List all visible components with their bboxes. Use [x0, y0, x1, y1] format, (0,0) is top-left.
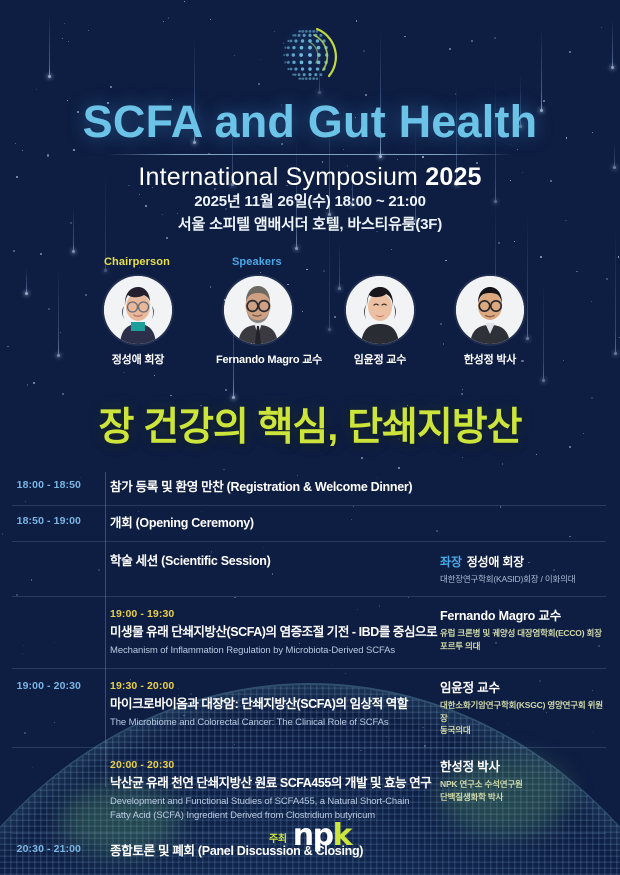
row-speaker: 임윤정 교수 대한소화기암연구학회(KSGC) 영양연구회 위원장 동국의대 [440, 680, 620, 738]
speaker-affiliation-1: 대한소화기암연구학회(KSGC) 영양연구회 위원장 [440, 699, 606, 725]
man-glasses-avatar [456, 276, 524, 344]
npk-logo-k: k [333, 818, 351, 853]
npk-logo-np: np [293, 818, 333, 853]
main-headline: 장 건강의 핵심, 단쇄지방산 [0, 396, 620, 452]
avatar [346, 276, 414, 344]
row-title: 학술 세션 (Scientific Session) [110, 553, 440, 570]
talk-title-ko: 낙산균 유래 천연 단쇄지방산 원료 SCFA455의 개발 및 효능 연구 [110, 775, 440, 792]
subtitle-year: 2025 [425, 163, 481, 191]
person-card-0: 정성애 회장 [96, 276, 180, 367]
row-time: 19:00 - 20:30 [0, 680, 93, 692]
speaker-name: Fernando Magro 교수 [440, 608, 606, 624]
person-card-1: Fernando Magro 교수 [216, 276, 300, 367]
title-divider [107, 154, 513, 155]
schedule-row-session-header: 학술 세션 (Scientific Session) 좌장정성애 회장 대한장연… [0, 542, 620, 597]
talk-title-ko: 미생물 유래 단쇄지방산(SCFA)의 염증조절 기전 - IBD를 중심으로 [110, 624, 440, 641]
chair-tag: 좌장 [440, 555, 462, 569]
avatar [104, 276, 172, 344]
subtitle: International Symposium 2025 [0, 163, 620, 192]
speaker-affiliation-2: 동국의대 [440, 724, 606, 737]
woman-short-hair-avatar [346, 276, 414, 344]
dotted-globe-icon [273, 18, 347, 92]
row-speaker: 한성정 박사 NPK 연구소 수석연구원 단백질생화학 박사 [440, 759, 620, 804]
row-title: 개회 (Opening Ceremony) [110, 515, 620, 532]
speakers-label: Speakers [232, 256, 282, 268]
speaker-name: 한성정 박사 [440, 759, 606, 775]
speaker-affiliation-2: 포르투 의대 [440, 640, 606, 653]
speaker-name: 임윤정 교수 [440, 680, 606, 696]
schedule-row: 18:50 - 19:00 개회 (Opening Ceremony) [0, 506, 620, 542]
row-chair: 좌장정성애 회장 대한장연구학회(KASID)회장 / 이화의대 [440, 553, 620, 586]
avatar [224, 276, 292, 344]
schedule-row-talk: 19:00 - 19:30 미생물 유래 단쇄지방산(SCFA)의 염증조절 기… [0, 597, 620, 669]
chair-name: 정성애 회장 [467, 555, 524, 569]
woman-glasses-avatar [104, 276, 172, 344]
page-title: SCFA and Gut Health [0, 98, 620, 145]
talk-title-ko: 마이크로바이옴과 대장암: 단쇄지방산(SCFA)의 임상적 역할 [110, 696, 440, 713]
event-meta: 2025년 11월 26일(수) 18:00 ~ 21:00 서울 소피텔 앰배… [0, 190, 620, 237]
person-name: 임윤정 교수 [338, 351, 422, 367]
person-card-2: 임윤정 교수 [338, 276, 422, 367]
symposium-poster: SCFA and Gut Health International Sympos… [0, 0, 620, 875]
row-speaker: Fernando Magro 교수 유럽 크론병 및 궤양성 대장염학회(ECC… [440, 608, 620, 653]
schedule-table: 18:00 - 18:50 참가 등록 및 환영 만찬 (Registratio… [0, 470, 620, 870]
row-time: 18:50 - 19:00 [0, 515, 93, 527]
host-label: 주최 [269, 830, 287, 851]
footer: 주최 npk [0, 821, 620, 851]
speaker-affiliation-1: 유럽 크론병 및 궤양성 대장염학회(ECCO) 회장 [440, 627, 606, 640]
person-name: Fernando Magro 교수 [216, 351, 300, 367]
title-block: SCFA and Gut Health International Sympos… [0, 98, 620, 192]
talk-title-en: Mechanism of Inflammation Regulation by … [110, 644, 440, 658]
subtitle-text: International Symposium [138, 163, 425, 191]
npk-logo: npk [293, 821, 351, 851]
event-datetime: 2025년 11월 26일(수) 18:00 ~ 21:00 [0, 190, 620, 213]
talk-time: 19:30 - 20:00 [110, 680, 440, 692]
row-title: 참가 등록 및 환영 만찬 (Registration & Welcome Di… [110, 479, 620, 496]
talk-title-en: The Microbiome and Colorectal Cancer: Th… [110, 716, 440, 730]
talk-time: 20:00 - 20:30 [110, 759, 440, 771]
chair-affiliation: 대한장연구학회(KASID)회장 / 이화의대 [440, 573, 606, 586]
person-name: 한성정 박사 [448, 351, 532, 367]
row-time: 18:00 - 18:50 [0, 479, 93, 491]
talk-time: 19:00 - 19:30 [110, 608, 440, 620]
talk-title-en-1: Development and Functional Studies of SC… [110, 795, 440, 809]
chairperson-label: Chairperson [104, 256, 170, 268]
man-glasses-beard-avatar [224, 276, 292, 344]
avatar [456, 276, 524, 344]
speaker-affiliation-2: 단백질생화학 박사 [440, 791, 606, 804]
schedule-row-talk: 19:00 - 20:30 19:30 - 20:00 마이크로바이옴과 대장암… [0, 669, 620, 749]
header-logo [0, 18, 620, 92]
event-venue: 서울 소피텔 앰배서더 호텔, 바스티유룸(3F) [0, 213, 620, 236]
person-card-3: 한성정 박사 [448, 276, 532, 367]
schedule-row: 18:00 - 18:50 참가 등록 및 환영 만찬 (Registratio… [0, 470, 620, 506]
speaker-affiliation-1: NPK 연구소 수석연구원 [440, 778, 606, 791]
person-name: 정성애 회장 [96, 351, 180, 367]
